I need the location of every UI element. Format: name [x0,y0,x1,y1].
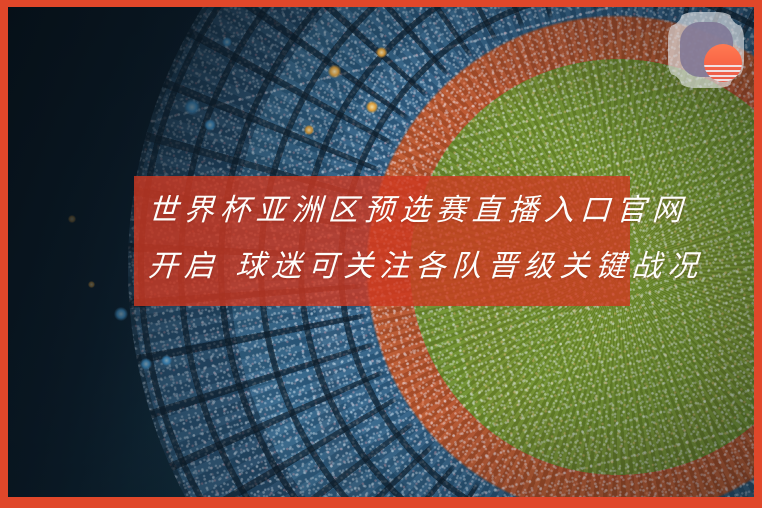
sun-stripe-2 [704,70,742,72]
sun-stripe-4 [704,79,742,81]
sun-icon [704,44,742,82]
headline-line-1: 世界杯亚洲区预选赛直播入口官网 [147,183,618,239]
headline-banner: 世界杯亚洲区预选赛直播入口官网 开启 球迷可关注各队晋级关键战况 [134,176,630,306]
logo-inner-squircle [680,22,733,77]
image-frame: 世界杯亚洲区预选赛直播入口官网 开启 球迷可关注各队晋级关键战况 [0,0,762,508]
sun-stripe-1 [704,65,742,67]
headline-line-2: 开启 球迷可关注各队晋级关键战况 [147,239,618,295]
sun-stripe-3 [704,75,742,77]
sunset-logo[interactable] [664,8,748,92]
